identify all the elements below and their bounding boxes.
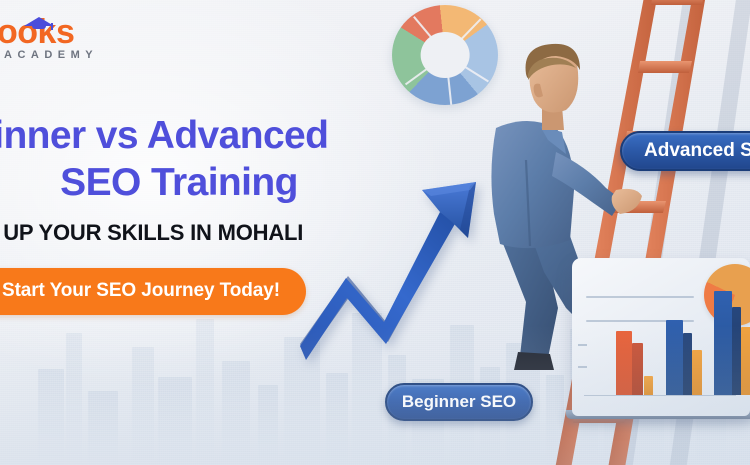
logo-subtitle: ACADEMY xyxy=(0,49,132,61)
graduation-cap-icon xyxy=(24,13,54,29)
headline-line-2: SEO Training xyxy=(0,159,410,206)
skyline-building xyxy=(88,391,118,465)
dashboard-card xyxy=(572,258,750,416)
page-title: ginner vs Advanced SEO Training xyxy=(0,112,410,206)
logo-wordmark: brooks xyxy=(0,12,132,52)
start-seo-journey-button[interactable]: Start Your SEO Journey Today! xyxy=(0,268,306,315)
badge-beginner-seo[interactable]: Beginner SEO xyxy=(385,383,533,421)
skyline-building xyxy=(158,377,192,465)
headline-block: ginner vs Advanced SEO Training EL UP YO… xyxy=(0,112,410,315)
donut-chart-top xyxy=(392,5,498,105)
brand-logo[interactable]: brooks ACADEMY xyxy=(0,12,132,68)
badge-advanced-seo[interactable]: Advanced SEO xyxy=(620,131,750,171)
subheadline: EL UP YOUR SKILLS IN MOHALI xyxy=(0,220,410,246)
headline-line-1: ginner vs Advanced xyxy=(0,114,328,157)
skyline-building xyxy=(132,347,154,465)
seo-training-banner: brooks ACADEMY xyxy=(0,0,750,465)
skyline-building xyxy=(66,333,82,465)
skyline-building xyxy=(326,373,348,465)
skyline-building xyxy=(38,369,64,465)
skyline-building xyxy=(258,385,278,465)
skyline-building xyxy=(196,319,214,465)
skyline-building xyxy=(546,375,564,465)
skyline-building xyxy=(222,361,250,465)
